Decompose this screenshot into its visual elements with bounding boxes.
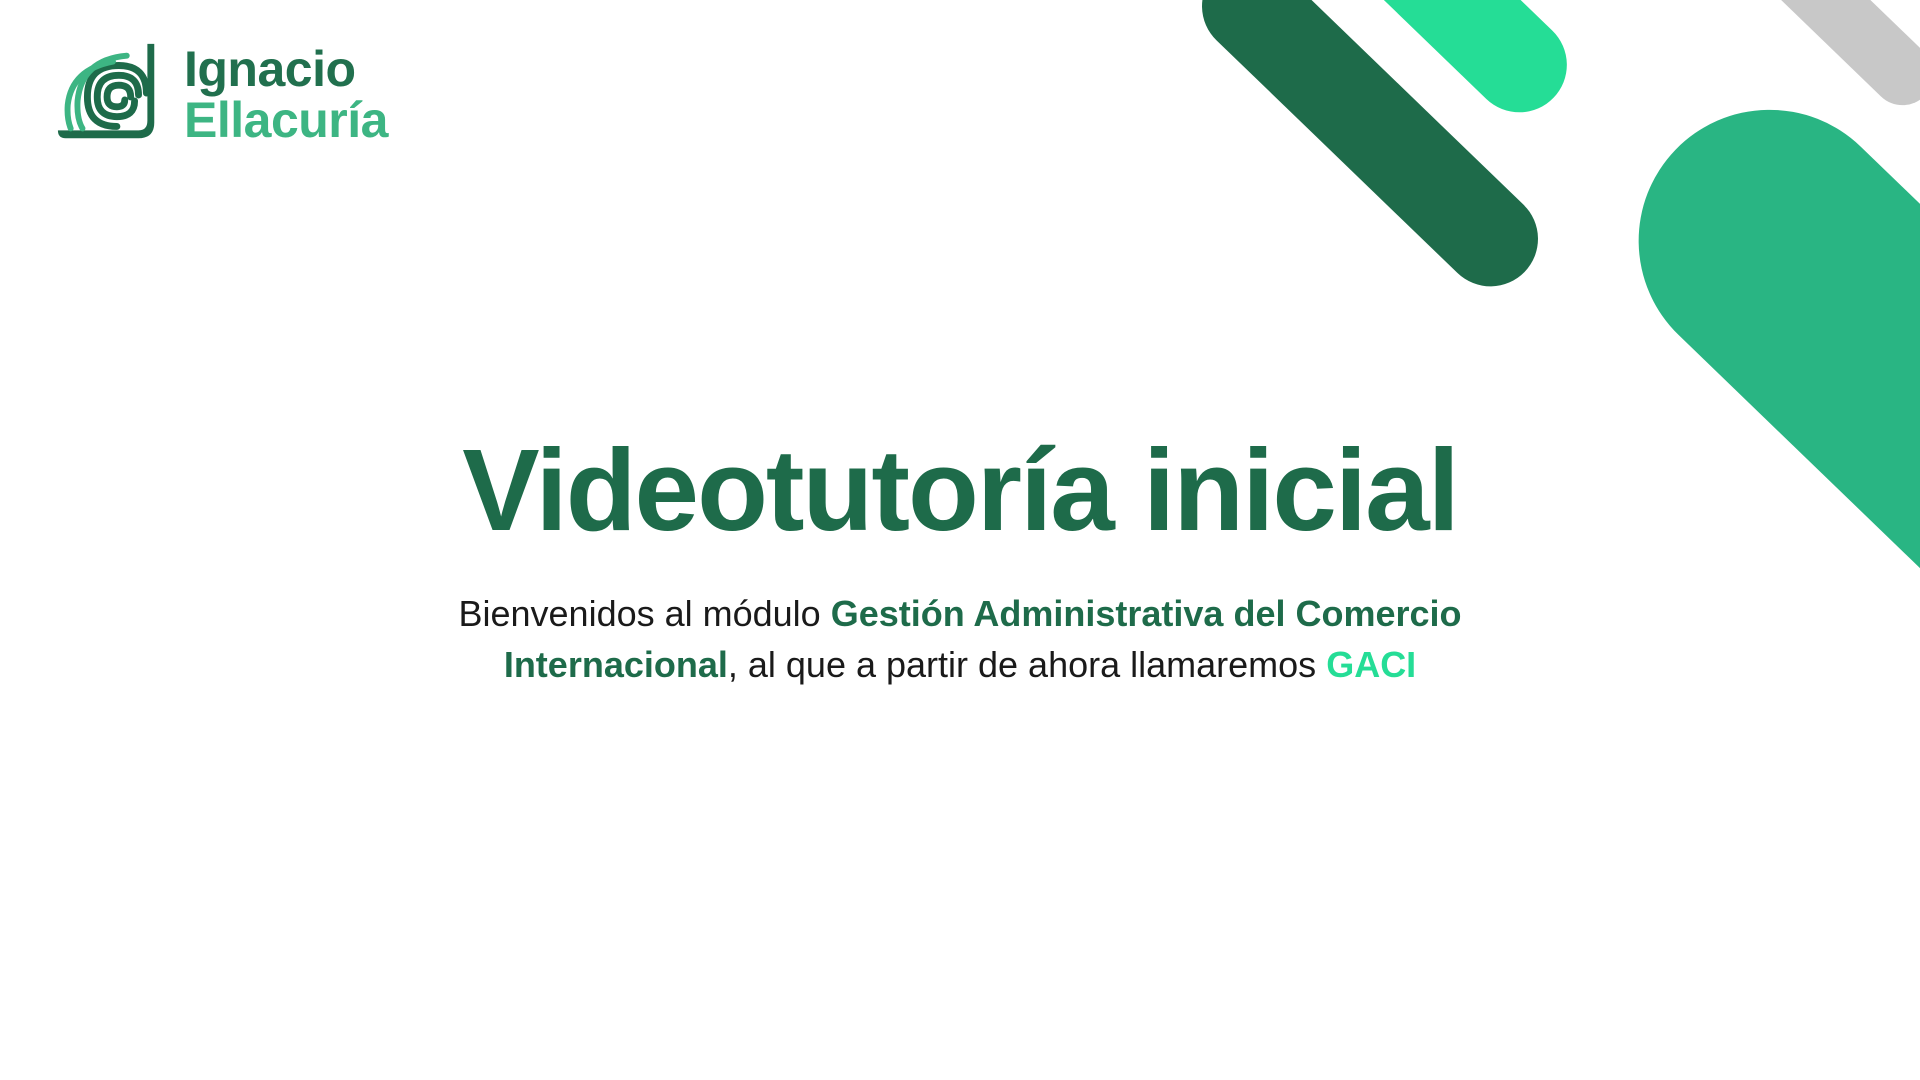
diagonal-bar-dark-green [1182, 0, 1557, 306]
brand-logo: Ignacio Ellacuría [52, 36, 388, 154]
diagonal-bar-grey [1749, 0, 1920, 118]
slide-title: Videotutoría inicial [0, 430, 1920, 552]
brand-name-first: Ignacio [184, 44, 388, 95]
brand-logo-wordmark: Ignacio Ellacuría [184, 44, 388, 146]
diagonal-bar-mint [1333, 0, 1586, 132]
brand-name-second: Ellacuría [184, 95, 388, 146]
subtitle-middle-text: , al que a partir de ahora llamaremos [728, 644, 1326, 685]
diagonal-bar-green-large [1584, 56, 1920, 717]
subtitle-acronym: GACI [1326, 644, 1416, 685]
slide-root: Ignacio Ellacuría Videotutoría inicial B… [0, 0, 1920, 1080]
subtitle-intro-text: Bienvenidos al módulo [458, 593, 830, 634]
slide-subtitle: Bienvenidos al módulo Gestión Administra… [400, 588, 1520, 690]
ellacuria-spiral-logo-icon [52, 36, 170, 154]
